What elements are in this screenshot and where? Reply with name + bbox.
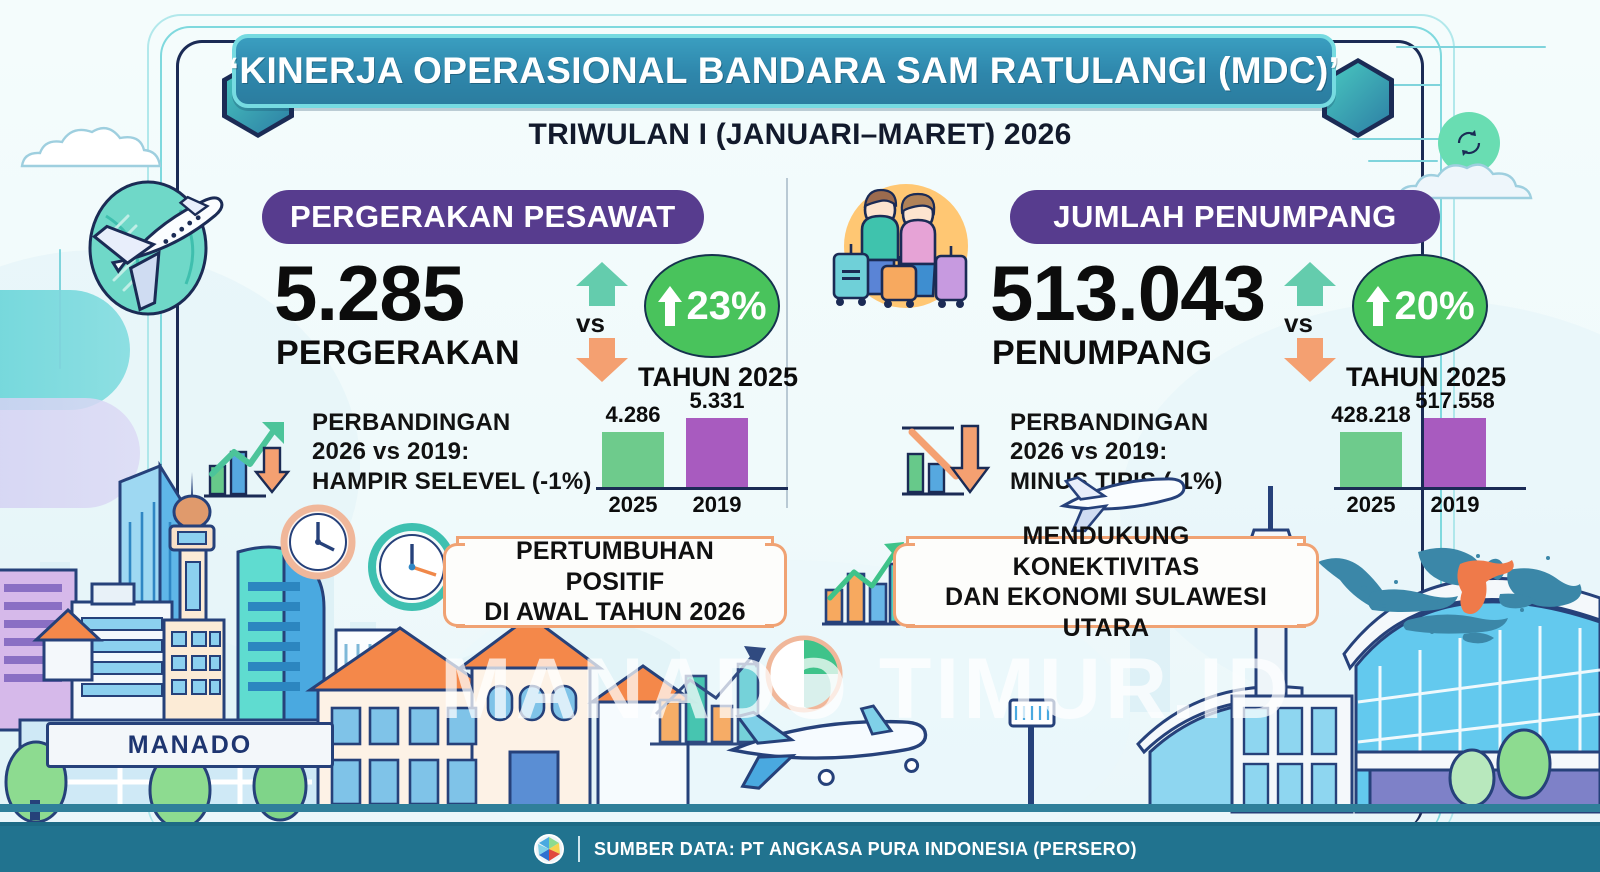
airplane-globe-icon bbox=[70, 176, 260, 326]
metric-unit-penumpang: PENUMPANG bbox=[992, 334, 1212, 373]
page-title-banner: ‘KINERJA OPERASIONAL BANDARA SAM RATULAN… bbox=[232, 34, 1336, 108]
growth-badge-pergerakan: 23% bbox=[644, 254, 780, 358]
metric-unit-pergerakan: PERGERAKAN bbox=[276, 334, 520, 373]
vs-label: vs bbox=[1284, 308, 1313, 339]
footer-source-text: SUMBER DATA: PT ANGKASA PURA INDONESIA (… bbox=[594, 839, 1137, 860]
city-name-label: MANADO bbox=[128, 731, 253, 760]
callout-line2: DAN EKONOMI SULAWESI UTARA bbox=[931, 582, 1281, 643]
footer-separator bbox=[578, 836, 580, 862]
panel-title-label: JUMLAH PENUMPANG bbox=[1053, 199, 1396, 235]
arrow-up-icon bbox=[1365, 284, 1391, 328]
vs-label: vs bbox=[576, 308, 605, 339]
bar-value-2019: 5.331 bbox=[689, 388, 744, 414]
growth-percent-penumpang: 20% bbox=[1394, 284, 1474, 329]
passengers-luggage-icon bbox=[818, 176, 1008, 326]
comparison-line1: PERBANDINGAN bbox=[312, 408, 592, 437]
decorative-dash bbox=[1396, 46, 1546, 48]
growth-badge-penumpang: 20% bbox=[1352, 254, 1488, 358]
footer-bar: SUMBER DATA: PT ANGKASA PURA INDONESIA (… bbox=[0, 826, 1600, 872]
page-title: ‘KINERJA OPERASIONAL BANDARA SAM RATULAN… bbox=[229, 50, 1339, 92]
metric-value-penumpang: 513.043 bbox=[990, 256, 1265, 330]
angkasa-pura-logo-icon bbox=[534, 834, 564, 864]
vs-indicator-pergerakan: vs bbox=[572, 260, 638, 384]
callout-konektivitas: MENDUKUNG KONEKTIVITAS DAN EKONOMI SULAW… bbox=[906, 536, 1306, 628]
callout-line1: PERTUMBUHAN POSITIF bbox=[481, 536, 749, 597]
bar-value-2025: 428.218 bbox=[1331, 402, 1411, 428]
panel-title-pill-pergerakan: PERGERAKAN PESAWAT bbox=[262, 190, 704, 244]
city-name-sign: MANADO bbox=[46, 722, 334, 768]
comparison-line1: PERBANDINGAN bbox=[1010, 408, 1223, 437]
infographic-canvas: ‘KINERJA OPERASIONAL BANDARA SAM RATULAN… bbox=[0, 0, 1600, 872]
callout-pertumbuhan: PERTUMBUHAN POSITIF DI AWAL TAHUN 2026 bbox=[456, 536, 774, 628]
arrow-down-icon bbox=[572, 336, 632, 384]
arrow-down-icon bbox=[1280, 336, 1340, 384]
arrow-up-icon bbox=[657, 284, 683, 328]
bar-value-2025: 4.286 bbox=[605, 402, 660, 428]
panel-title-label: PERGERAKAN PESAWAT bbox=[290, 199, 676, 235]
bar-value-2019: 517.558 bbox=[1415, 388, 1495, 414]
page-subtitle: TRIWULAN I (JANUARI–MARET) 2026 bbox=[0, 118, 1600, 152]
metric-value-pergerakan: 5.285 bbox=[274, 256, 464, 330]
growth-percent-pergerakan: 23% bbox=[686, 284, 766, 329]
panel-title-pill-penumpang: JUMLAH PENUMPANG bbox=[1010, 190, 1440, 244]
indonesia-map-icon bbox=[1312, 536, 1588, 658]
arrow-up-icon bbox=[572, 260, 632, 308]
callout-line2: DI AWAL TAHUN 2026 bbox=[481, 597, 749, 628]
vs-indicator-penumpang: vs bbox=[1280, 260, 1346, 384]
arrow-up-icon bbox=[1280, 260, 1340, 308]
callout-line1: MENDUKUNG KONEKTIVITAS bbox=[931, 521, 1281, 582]
